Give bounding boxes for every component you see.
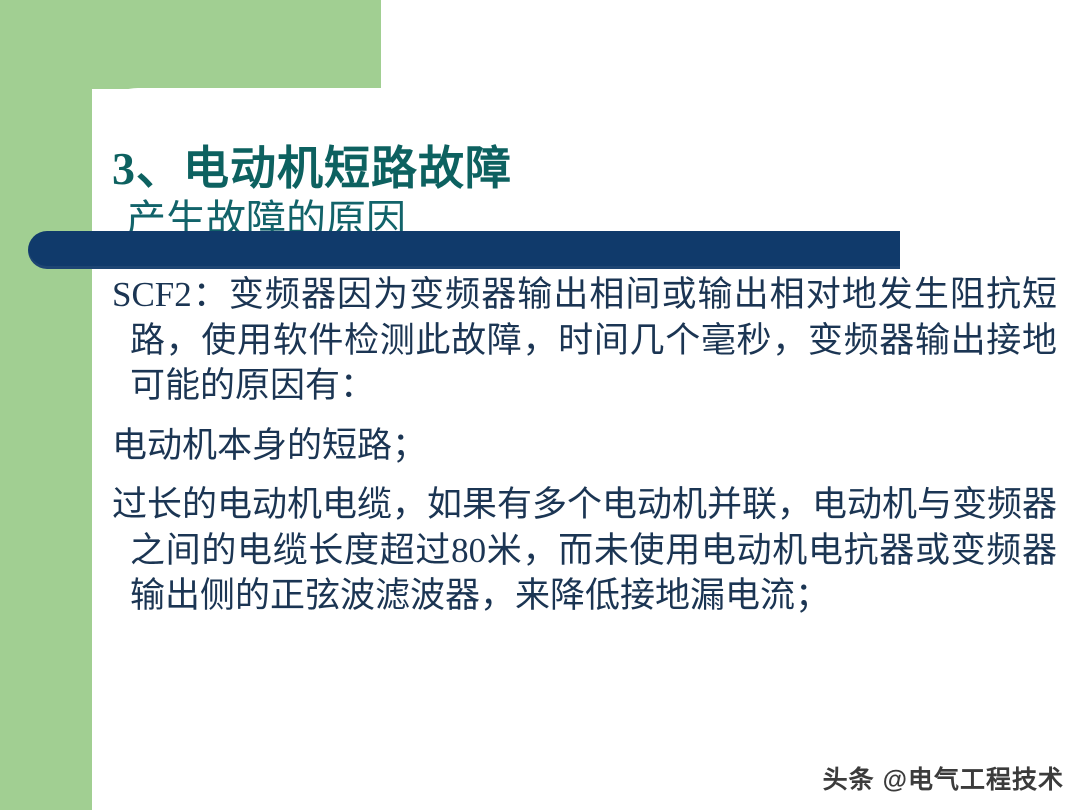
watermark-label: 头条 @电气工程技术 [823, 760, 1064, 796]
body-content: SCF2：变频器因为变频器输出相间或输出相对地发生阻抗短路，使用软件检测此故障，… [112, 272, 1057, 621]
title-block: 3、电动机短路故障 产生故障的原因 [112, 142, 1012, 242]
green-top-block-decoration [0, 0, 381, 89]
green-left-strip-decoration [0, 0, 92, 810]
blue-divider-bar [28, 231, 900, 269]
body-paragraph-2: 电动机本身的短路； [112, 423, 1057, 469]
body-paragraph-3: 过长的电动机电缆，如果有多个电动机并联，电动机与变频器之间的电缆长度超过80米，… [112, 482, 1057, 619]
presentation-slide: 3、电动机短路故障 产生故障的原因 SCF2：变频器因为变频器输出相间或输出相对… [0, 0, 1080, 810]
body-paragraph-1: SCF2：变频器因为变频器输出相间或输出相对地发生阻抗短路，使用软件检测此故障，… [112, 272, 1057, 409]
page-title: 3、电动机短路故障 [112, 142, 1012, 196]
